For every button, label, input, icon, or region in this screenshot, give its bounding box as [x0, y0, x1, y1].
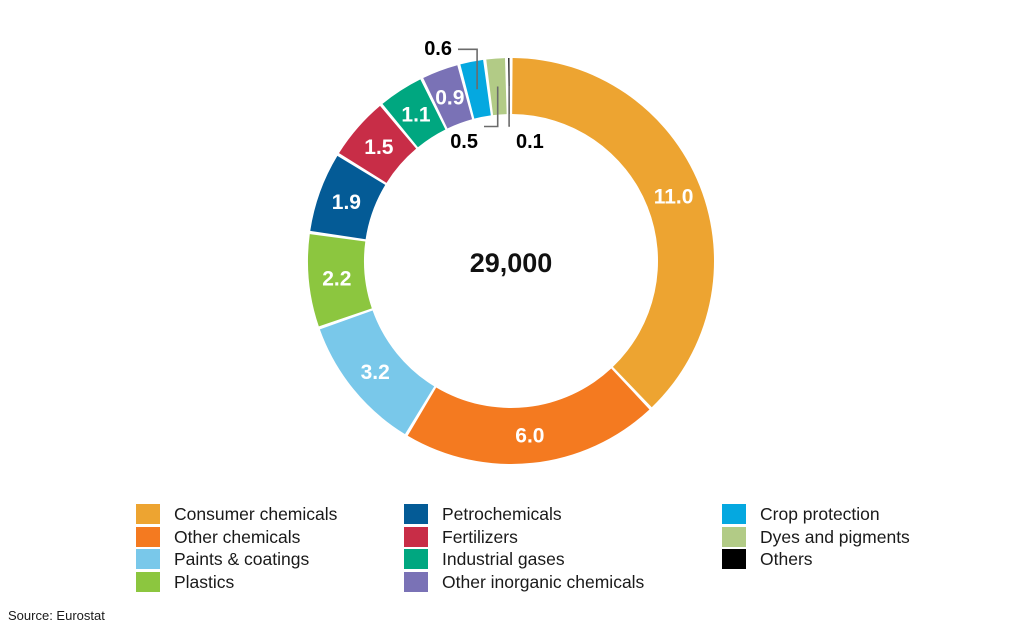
- legend-swatch-industrial-gases: [404, 549, 428, 569]
- slice-value-label: 1.9: [332, 191, 361, 214]
- legend-item[interactable]: Plastics: [136, 571, 404, 594]
- center-total-label: 29,000: [470, 248, 553, 278]
- legend-item[interactable]: Consumer chemicals: [136, 503, 404, 526]
- legend-item[interactable]: Crop protection: [722, 503, 996, 526]
- legend-label: Other chemicals: [174, 527, 300, 547]
- legend-item[interactable]: Industrial gases: [404, 548, 722, 571]
- legend-item[interactable]: Petrochemicals: [404, 503, 722, 526]
- legend-column-1: Consumer chemicals Other chemicals Paint…: [136, 503, 404, 593]
- legend-label: Industrial gases: [442, 549, 565, 569]
- legend-swatch-dyes-and-pigments: [722, 527, 746, 547]
- legend-swatch-fertilizers: [404, 527, 428, 547]
- slice-callout-value-label: 0.6: [424, 38, 452, 60]
- legend-swatch-paints-and-coatings: [136, 549, 160, 569]
- legend-swatch-plastics: [136, 572, 160, 592]
- legend-item[interactable]: Dyes and pigments: [722, 526, 996, 549]
- legend-swatch-consumer-chemicals: [136, 504, 160, 524]
- slice-value-label: 11.0: [654, 186, 694, 209]
- slice-callout-value-label: 0.5: [450, 131, 478, 153]
- legend-label: Others: [760, 549, 813, 569]
- chart-legend: Consumer chemicals Other chemicals Paint…: [136, 503, 996, 593]
- donut-slice[interactable]: [512, 58, 714, 407]
- legend-label: Fertilizers: [442, 527, 518, 547]
- legend-label: Paints & coatings: [174, 549, 309, 569]
- legend-swatch-other-chemicals: [136, 527, 160, 547]
- legend-swatch-crop-protection: [722, 504, 746, 524]
- legend-label: Dyes and pigments: [760, 527, 910, 547]
- legend-swatch-petrochemicals: [404, 504, 428, 524]
- legend-column-2: Petrochemicals Fertilizers Industrial ga…: [404, 503, 722, 593]
- legend-item[interactable]: Paints & coatings: [136, 548, 404, 571]
- slice-value-label: 1.1: [401, 104, 431, 127]
- legend-swatch-others: [722, 549, 746, 569]
- legend-item[interactable]: Others: [722, 548, 996, 571]
- slice-value-label: 6.0: [515, 425, 544, 448]
- legend-item[interactable]: Fertilizers: [404, 526, 722, 549]
- legend-item[interactable]: Other chemicals: [136, 526, 404, 549]
- legend-item[interactable]: Other inorganic chemicals: [404, 571, 722, 594]
- source-note: Source: Eurostat: [8, 608, 105, 623]
- slice-value-label: 3.2: [361, 361, 390, 384]
- legend-swatch-other-inorganic-chemicals: [404, 572, 428, 592]
- slice-value-label: 0.9: [435, 87, 464, 110]
- legend-label: Consumer chemicals: [174, 504, 337, 524]
- legend-label: Other inorganic chemicals: [442, 572, 644, 592]
- callout-leader-line: [509, 86, 510, 126]
- slice-value-label: 1.5: [364, 136, 394, 159]
- slice-value-label: 2.2: [322, 268, 351, 291]
- legend-column-3: Crop protection Dyes and pigments Others: [722, 503, 996, 571]
- donut-slice[interactable]: [408, 369, 650, 464]
- legend-label: Plastics: [174, 572, 234, 592]
- legend-label: Petrochemicals: [442, 504, 562, 524]
- legend-label: Crop protection: [760, 504, 880, 524]
- slice-callout-value-label: 0.1: [516, 131, 544, 153]
